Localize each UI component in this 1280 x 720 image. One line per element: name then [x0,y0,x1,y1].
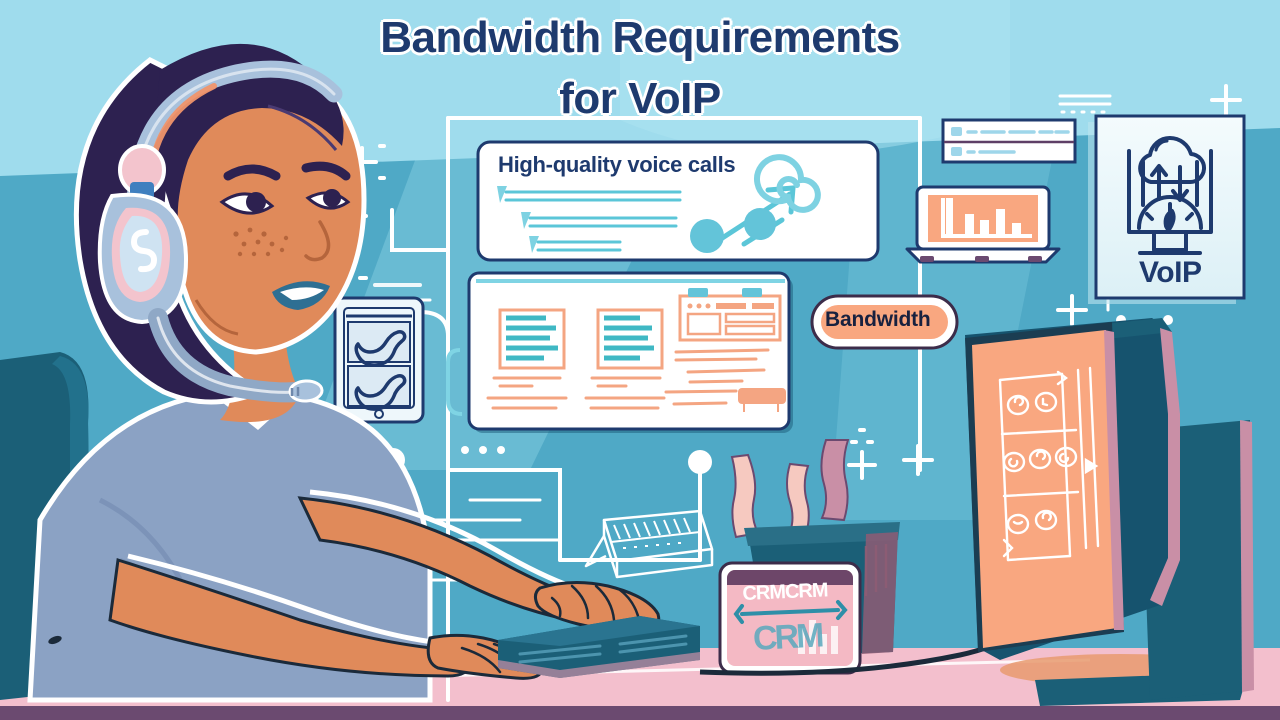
voip-panel-label: VoIP [1139,256,1201,290]
voice-card-dot-1 [690,219,724,253]
bandwidth-badge-label: Bandwidth [825,308,931,332]
monitor-neck-highlight [1240,420,1254,692]
cup-shade [862,532,898,654]
tablet-with-phone-icons[interactable] [335,298,423,422]
dashboard-card[interactable] [448,273,793,433]
microphone-icon [289,380,322,402]
voice-card-dot-2 [744,208,776,240]
infographic-canvas: Bandwidth Requirements for VoIP High-qua… [0,0,1280,720]
desk-front-edge [0,706,1280,720]
illustration [0,0,1280,720]
browser-toolbar-widget[interactable] [943,120,1075,162]
voice-quality-label: High-quality voice calls [498,152,735,178]
crm-label-top: CRMCRM [742,579,828,606]
crm-label-bottom: CRM [752,616,822,659]
headset-earcup-inner2 [120,216,162,292]
laptop-with-bar-chart[interactable] [907,187,1059,262]
pen-2 [821,440,848,520]
